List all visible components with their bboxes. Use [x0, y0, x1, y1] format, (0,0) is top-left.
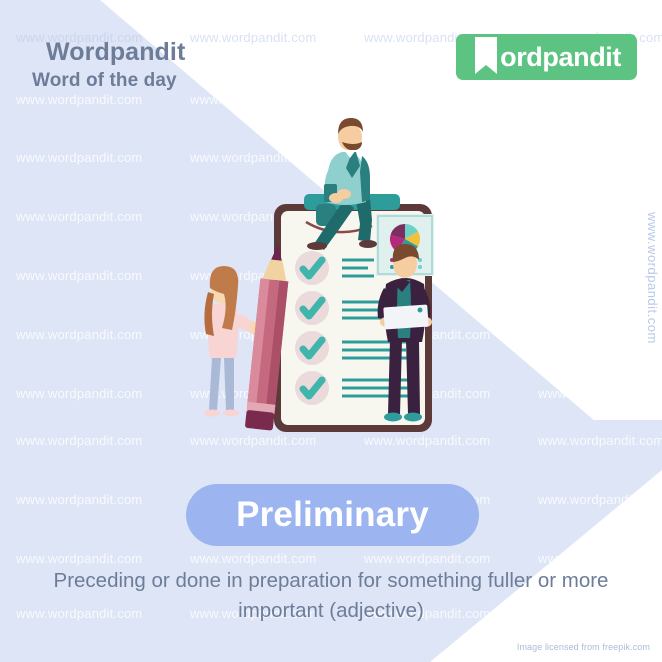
word-of-the-day-card: www.wordpandit.com www.wordpandit.com ww…: [0, 0, 662, 662]
wordpandit-logo[interactable]: ordpandit: [456, 34, 637, 80]
checklist-clipboard-teamwork-illustration: [186, 112, 486, 442]
definition-text: Preceding or done in preparation for som…: [31, 566, 631, 626]
watermark-text: www.wordpandit.com: [16, 268, 142, 283]
watermark-text: www.wordpandit.com: [16, 150, 142, 165]
bookmark-icon: [472, 34, 502, 80]
watermark-text: www.wordpandit.com: [16, 327, 142, 342]
watermark-text: www.wordpandit.com: [16, 386, 142, 401]
checkmark-item: [295, 331, 329, 365]
image-credit: Image licensed from freepik.com: [517, 642, 650, 652]
header: Wordpandit Word of the day ordpandit: [0, 0, 662, 110]
word-pill: Preliminary: [186, 484, 479, 546]
logo-text: ordpandit: [500, 44, 637, 71]
brand-subtitle: Word of the day: [32, 70, 177, 92]
checkmark-item: [295, 251, 329, 285]
checkmark-item: [295, 371, 329, 405]
brand-title: Wordpandit: [46, 38, 185, 67]
checkmark-item: [295, 291, 329, 325]
word-of-the-day: Preliminary: [236, 495, 429, 535]
watermark-text: www.wordpandit.com: [16, 209, 142, 224]
